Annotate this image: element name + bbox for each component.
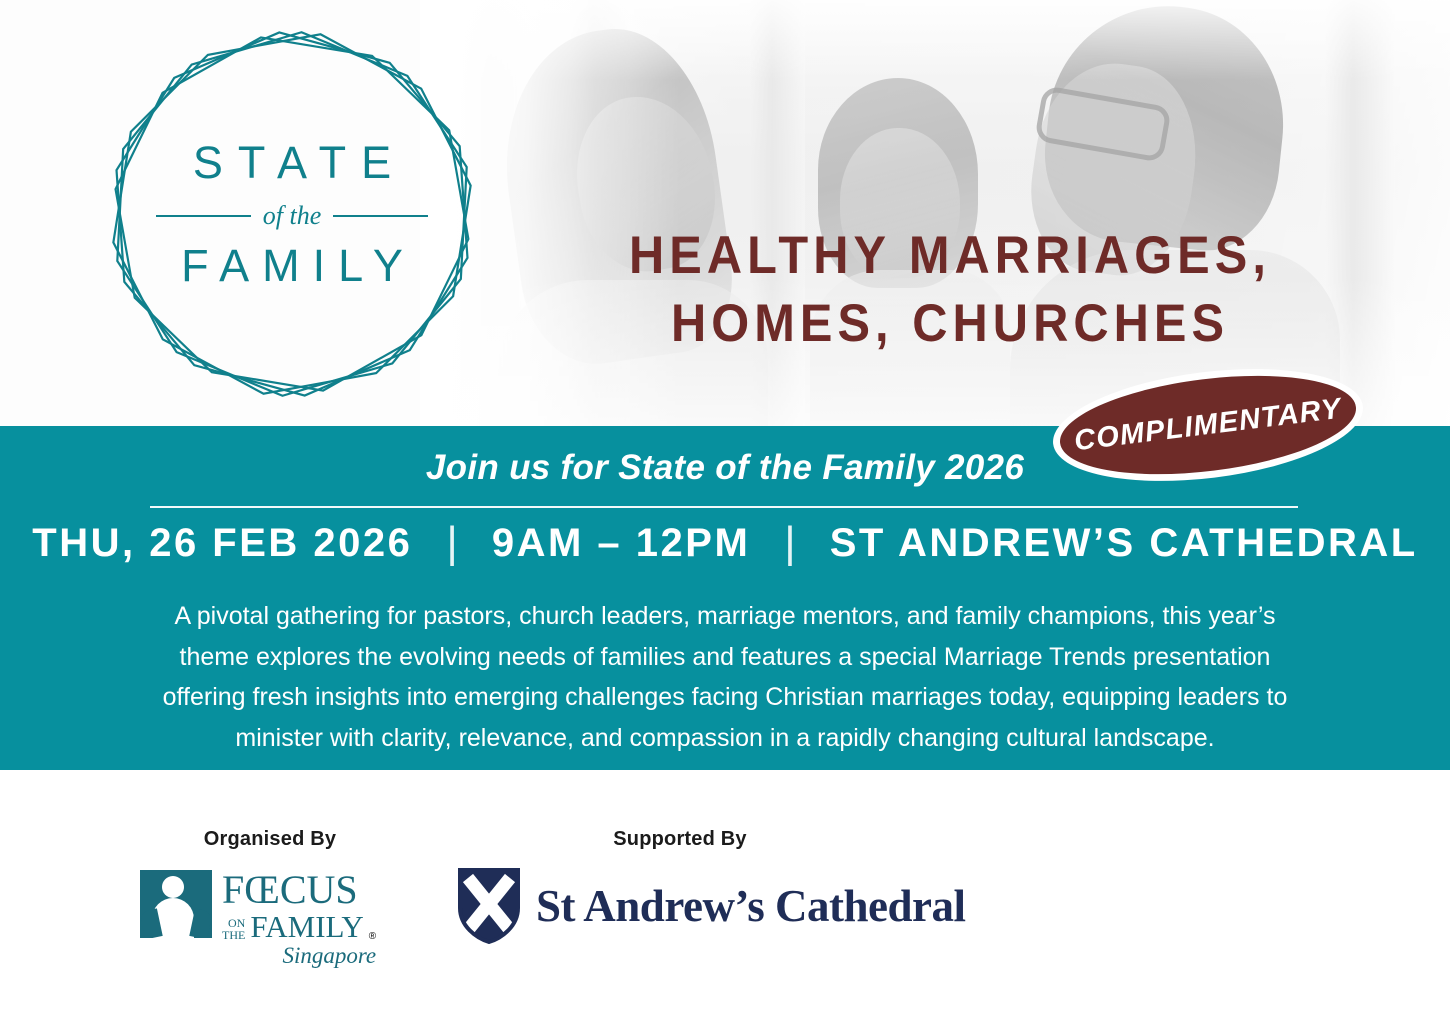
mark-head-shape bbox=[162, 876, 184, 898]
fotf-singapore-text: Singapore bbox=[282, 944, 376, 967]
poster-headline: HEALTHY MARRIAGES, HOMES, CHURCHES bbox=[536, 222, 1364, 358]
state-of-the-family-logo: STATE of the FAMILY bbox=[92, 18, 492, 410]
fotf-onthe-text: ON THE bbox=[222, 917, 245, 942]
fotf-focus-text: FŒCUS bbox=[222, 870, 376, 910]
meta-separator: | bbox=[784, 518, 795, 568]
event-date: THU, 26 FEB 2026 bbox=[32, 521, 412, 566]
event-time: 9AM – 12PM bbox=[492, 521, 750, 566]
meta-separator: | bbox=[446, 518, 457, 568]
shield-icon bbox=[458, 868, 520, 944]
organised-by-label: Organised By bbox=[140, 828, 400, 851]
hero-section: STATE of the FAMILY HEALTHY MARRIAGES, H… bbox=[0, 0, 1450, 426]
octagon-frame-icon bbox=[92, 18, 492, 410]
supported-by-label: Supported By bbox=[540, 828, 820, 851]
focus-family-mark-icon bbox=[140, 870, 212, 938]
cathedral-name-text: St Andrew’s Cathedral bbox=[536, 880, 966, 932]
registered-trademark-icon: ® bbox=[369, 932, 376, 942]
focus-family-wordmark: FŒCUS ON THE FAMILY ® Singapore bbox=[222, 870, 376, 967]
focus-on-the-family-logo: FŒCUS ON THE FAMILY ® Singapore bbox=[140, 870, 380, 960]
event-venue: ST ANDREW’S CATHEDRAL bbox=[830, 521, 1418, 566]
fotf-second-row: ON THE FAMILY ® bbox=[222, 911, 376, 942]
st-andrews-cathedral-logo: St Andrew’s Cathedral bbox=[458, 870, 908, 942]
event-meta-row: THU, 26 FEB 2026 | 9AM – 12PM | ST ANDRE… bbox=[0, 518, 1450, 568]
footer-section: Organised By Supported By FŒCUS ON THE F… bbox=[0, 770, 1450, 1024]
event-details-band: Join us for State of the Family 2026 THU… bbox=[0, 426, 1450, 770]
event-poster: STATE of the FAMILY HEALTHY MARRIAGES, H… bbox=[0, 0, 1450, 1024]
badge-label: COMPLIMENTARY bbox=[1072, 392, 1343, 458]
fotf-family-text: FAMILY bbox=[250, 911, 363, 942]
event-description: A pivotal gathering for pastors, church … bbox=[160, 596, 1290, 758]
fotf-the-text: THE bbox=[222, 928, 245, 942]
band-divider bbox=[150, 506, 1298, 508]
